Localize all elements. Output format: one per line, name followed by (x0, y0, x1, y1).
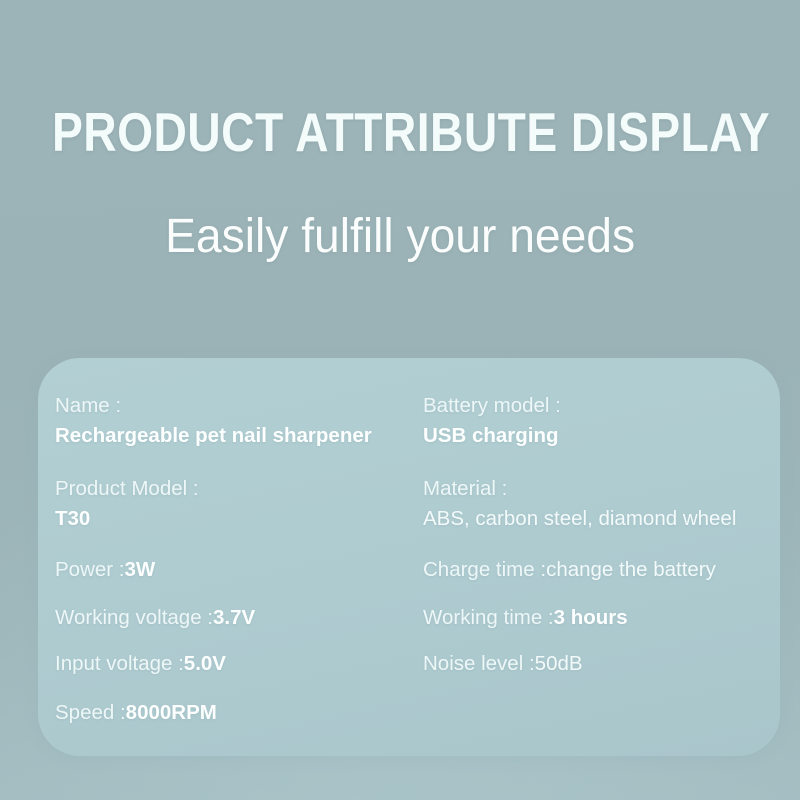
spec-value-speed: 8000RPM (126, 701, 217, 724)
page-title: PRODUCT ATTRIBUTE DISPLAY (52, 101, 779, 163)
spec-label-material: Material : (423, 475, 736, 502)
spec-value-input-voltage: 5.0V (184, 652, 226, 675)
spec-row-noise-level: Noise level :50dB (423, 650, 583, 677)
spec-column-right: Battery model : USB charging Material : … (423, 358, 778, 756)
spec-label-power: Power : (55, 558, 125, 581)
spec-value-working-time: 3 hours (554, 606, 628, 629)
spec-row-battery-model: Battery model : USB charging (423, 392, 561, 449)
spec-label-battery-model: Battery model : (423, 392, 561, 419)
spec-label-working-voltage: Working voltage : (55, 606, 213, 629)
product-attribute-display-page: PRODUCT ATTRIBUTE DISPLAY Easily fulfill… (0, 0, 800, 800)
spec-row-name: Name : Rechargeable pet nail sharpener (55, 392, 372, 449)
spec-row-speed: Speed :8000RPM (55, 699, 217, 726)
spec-label-working-time: Working time : (423, 606, 554, 629)
spec-row-material: Material : ABS, carbon steel, diamond wh… (423, 475, 736, 532)
spec-value-battery-model: USB charging (423, 422, 561, 449)
spec-label-speed: Speed : (55, 701, 126, 724)
spec-label-input-voltage: Input voltage : (55, 652, 184, 675)
spec-label-charge-time: Charge time : (423, 558, 546, 581)
spec-row-working-time: Working time :3 hours (423, 604, 628, 631)
spec-column-left: Name : Rechargeable pet nail sharpener P… (55, 358, 425, 756)
spec-row-charge-time: Charge time :change the battery (423, 556, 716, 583)
spec-value-product-model: T30 (55, 505, 199, 532)
specification-card: Name : Rechargeable pet nail sharpener P… (38, 358, 780, 756)
spec-row-working-voltage: Working voltage :3.7V (55, 604, 255, 631)
spec-value-material: ABS, carbon steel, diamond wheel (423, 505, 736, 532)
spec-label-noise-level: Noise level : (423, 652, 535, 675)
spec-value-name: Rechargeable pet nail sharpener (55, 422, 372, 449)
specification-columns: Name : Rechargeable pet nail sharpener P… (38, 358, 780, 756)
spec-value-noise-level: 50dB (535, 652, 583, 675)
page-subtitle: Easily fulfill your needs (0, 208, 800, 266)
spec-value-working-voltage: 3.7V (213, 606, 255, 629)
spec-label-product-model: Product Model : (55, 475, 199, 502)
spec-row-power: Power :3W (55, 556, 155, 583)
spec-label-name: Name : (55, 392, 372, 419)
spec-row-input-voltage: Input voltage :5.0V (55, 650, 226, 677)
spec-value-charge-time: change the battery (546, 558, 716, 581)
spec-row-product-model: Product Model : T30 (55, 475, 199, 532)
spec-value-power: 3W (125, 558, 156, 581)
